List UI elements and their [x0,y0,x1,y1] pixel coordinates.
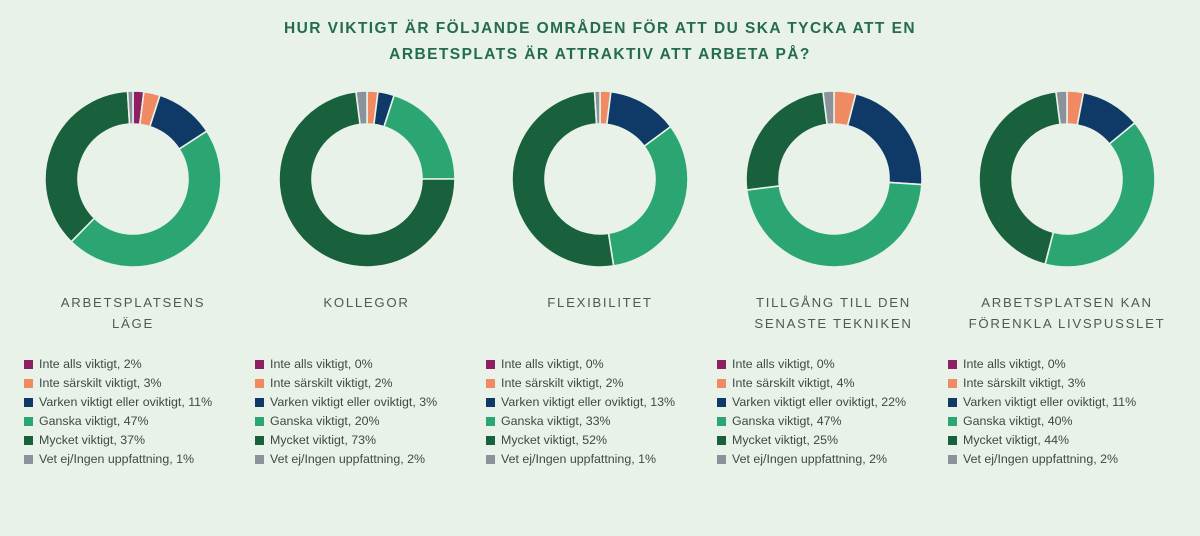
chart-title: ARBETSPLATSENS LÄGE [61,292,205,334]
donut-chart[interactable] [739,84,929,274]
legend-swatch-icon [24,436,33,445]
legend-item[interactable]: Ganska viktigt, 20% [255,413,483,430]
legend-swatch-icon [255,436,264,445]
donut-slice[interactable] [746,92,827,190]
legend-swatch-icon [948,455,957,464]
legend-item[interactable]: Vet ej/Ingen uppfattning, 1% [24,451,252,468]
legend-item[interactable]: Inte alls viktigt, 2% [24,356,252,373]
legend-item[interactable]: Inte särskilt viktigt, 3% [948,375,1176,392]
legend-label: Inte alls viktigt, 2% [39,356,142,373]
donut-chart[interactable] [505,84,695,274]
legend-item[interactable]: Varken viktigt eller oviktigt, 3% [255,394,483,411]
legend-label: Varken viktigt eller oviktigt, 11% [963,394,1136,411]
legend-swatch-icon [486,436,495,445]
chart-cell: ARBETSPLATSENS LÄGE [24,84,242,334]
legend-item[interactable]: Inte alls viktigt, 0% [717,356,945,373]
legend-swatch-icon [948,417,957,426]
legend-label: Vet ej/Ingen uppfattning, 1% [39,451,194,468]
legend-swatch-icon [717,379,726,388]
legend-item[interactable]: Vet ej/Ingen uppfattning, 2% [948,451,1176,468]
legend-swatch-icon [24,398,33,407]
legend-item[interactable]: Inte särskilt viktigt, 2% [255,375,483,392]
legend-item[interactable]: Mycket viktigt, 44% [948,432,1176,449]
legend-swatch-icon [24,455,33,464]
legend-item[interactable]: Vet ej/Ingen uppfattning, 2% [717,451,945,468]
legend-item[interactable]: Varken viktigt eller oviktigt, 11% [948,394,1176,411]
legend-item[interactable]: Inte särskilt viktigt, 3% [24,375,252,392]
page-title-line-2: ARBETSPLATS ÄR ATTRAKTIV ATT ARBETA PÅ? [0,42,1200,68]
legend-label: Vet ej/Ingen uppfattning, 2% [732,451,887,468]
donut-slice[interactable] [746,182,921,267]
chart-title: FLEXIBILITET [547,292,652,313]
legend-label: Inte alls viktigt, 0% [963,356,1066,373]
legend-label: Vet ej/Ingen uppfattning, 2% [963,451,1118,468]
legend-label: Mycket viktigt, 44% [963,432,1069,449]
chart-legend: Inte alls viktigt, 0%Inte särskilt vikti… [717,356,945,470]
legends-row: Inte alls viktigt, 2%Inte särskilt vikti… [0,334,1200,470]
legend-item[interactable]: Ganska viktigt, 47% [24,413,252,430]
legend-label: Ganska viktigt, 20% [270,413,380,430]
legend-item[interactable]: Varken viktigt eller oviktigt, 22% [717,394,945,411]
chart-legend: Inte alls viktigt, 0%Inte särskilt vikti… [948,356,1176,470]
legend-swatch-icon [717,398,726,407]
legend-swatch-icon [24,379,33,388]
chart-page: HUR VIKTIGT ÄR FÖLJANDE OMRÅDEN FÖR ATT … [0,0,1200,536]
legend-swatch-icon [255,398,264,407]
legend-swatch-icon [255,417,264,426]
page-title-line-1: HUR VIKTIGT ÄR FÖLJANDE OMRÅDEN FÖR ATT … [0,16,1200,42]
legend-item[interactable]: Mycket viktigt, 52% [486,432,714,449]
legend-swatch-icon [717,436,726,445]
chart-title: ARBETSPLATSEN KAN FÖRENKLA LIVSPUSSLET [969,292,1166,334]
legend-swatch-icon [486,379,495,388]
legend-swatch-icon [486,360,495,369]
legend-label: Inte särskilt viktigt, 3% [963,375,1086,392]
legend-label: Mycket viktigt, 73% [270,432,376,449]
legend-label: Mycket viktigt, 37% [39,432,145,449]
legend-label: Inte särskilt viktigt, 2% [270,375,393,392]
legend-label: Ganska viktigt, 33% [501,413,611,430]
legend-item[interactable]: Inte särskilt viktigt, 4% [717,375,945,392]
legend-swatch-icon [255,455,264,464]
legend-swatch-icon [948,379,957,388]
donut-slice[interactable] [45,91,130,242]
legend-item[interactable]: Inte alls viktigt, 0% [486,356,714,373]
legend-item[interactable]: Varken viktigt eller oviktigt, 13% [486,394,714,411]
legend-item[interactable]: Inte alls viktigt, 0% [948,356,1176,373]
legend-label: Inte alls viktigt, 0% [732,356,835,373]
donut-slice[interactable] [609,127,688,266]
legend-label: Ganska viktigt, 47% [39,413,149,430]
legend-swatch-icon [486,417,495,426]
legend-item[interactable]: Inte särskilt viktigt, 2% [486,375,714,392]
legend-item[interactable]: Ganska viktigt, 47% [717,413,945,430]
donut-chart[interactable] [972,84,1162,274]
legend-label: Inte särskilt viktigt, 3% [39,375,162,392]
legend-label: Inte alls viktigt, 0% [501,356,604,373]
legend-label: Ganska viktigt, 40% [963,413,1073,430]
legend-swatch-icon [24,417,33,426]
donut-slice[interactable] [847,94,921,185]
legend-label: Varken viktigt eller oviktigt, 11% [39,394,212,411]
legend-label: Inte alls viktigt, 0% [270,356,373,373]
legend-swatch-icon [948,436,957,445]
chart-cell: FLEXIBILITET [491,84,709,334]
legend-item[interactable]: Inte alls viktigt, 0% [255,356,483,373]
legend-swatch-icon [717,417,726,426]
legend-label: Mycket viktigt, 52% [501,432,607,449]
legend-swatch-icon [486,455,495,464]
chart-legend: Inte alls viktigt, 0%Inte särskilt vikti… [255,356,483,470]
chart-title: KOLLEGOR [323,292,409,313]
legend-label: Vet ej/Ingen uppfattning, 2% [270,451,425,468]
legend-label: Ganska viktigt, 47% [732,413,842,430]
legend-item[interactable]: Mycket viktigt, 37% [24,432,252,449]
legend-label: Varken viktigt eller oviktigt, 3% [270,394,437,411]
legend-item[interactable]: Ganska viktigt, 33% [486,413,714,430]
chart-cell: TILLGÅNG TILL DEN SENASTE TEKNIKEN [725,84,943,334]
donut-charts-row: ARBETSPLATSENS LÄGEKOLLEGORFLEXIBILITETT… [0,68,1200,334]
legend-item[interactable]: Varken viktigt eller oviktigt, 11% [24,394,252,411]
donut-slice[interactable] [71,131,221,267]
legend-label: Varken viktigt eller oviktigt, 13% [501,394,675,411]
legend-swatch-icon [24,360,33,369]
chart-cell: KOLLEGOR [258,84,476,334]
page-title: HUR VIKTIGT ÄR FÖLJANDE OMRÅDEN FÖR ATT … [0,0,1200,68]
legend-label: Mycket viktigt, 25% [732,432,838,449]
legend-label: Varken viktigt eller oviktigt, 22% [732,394,906,411]
donut-slice[interactable] [383,95,454,179]
legend-item[interactable]: Vet ej/Ingen uppfattning, 1% [486,451,714,468]
donut-slice[interactable] [979,92,1060,265]
legend-item[interactable]: Mycket viktigt, 73% [255,432,483,449]
legend-swatch-icon [255,360,264,369]
donut-chart[interactable] [272,84,462,274]
legend-swatch-icon [948,360,957,369]
chart-legend: Inte alls viktigt, 0%Inte särskilt vikti… [486,356,714,470]
chart-cell: ARBETSPLATSEN KAN FÖRENKLA LIVSPUSSLET [958,84,1176,334]
donut-chart[interactable] [38,84,228,274]
legend-swatch-icon [717,360,726,369]
legend-swatch-icon [255,379,264,388]
legend-label: Vet ej/Ingen uppfattning, 1% [501,451,656,468]
legend-item[interactable]: Vet ej/Ingen uppfattning, 2% [255,451,483,468]
legend-swatch-icon [948,398,957,407]
legend-item[interactable]: Mycket viktigt, 25% [717,432,945,449]
chart-title: TILLGÅNG TILL DEN SENASTE TEKNIKEN [754,292,912,334]
donut-slice[interactable] [1045,123,1155,267]
legend-label: Inte särskilt viktigt, 2% [501,375,624,392]
legend-swatch-icon [717,455,726,464]
legend-label: Inte särskilt viktigt, 4% [732,375,855,392]
chart-legend: Inte alls viktigt, 2%Inte särskilt vikti… [24,356,252,470]
legend-swatch-icon [486,398,495,407]
legend-item[interactable]: Ganska viktigt, 40% [948,413,1176,430]
